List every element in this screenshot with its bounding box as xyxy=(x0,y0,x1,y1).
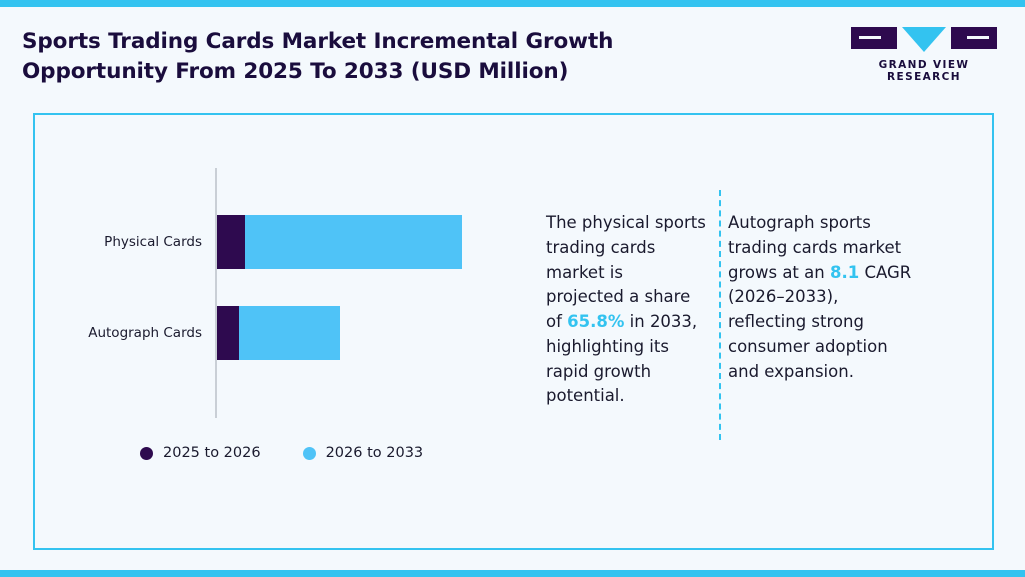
chart-legend: 2025 to 2026 2026 to 2033 xyxy=(140,445,423,461)
legend-label: 2026 to 2033 xyxy=(326,445,424,461)
bar-segment-2025-2026 xyxy=(217,306,239,360)
logo-triangle-icon xyxy=(902,27,946,52)
bar-label-autograph-cards: Autograph Cards xyxy=(88,325,202,341)
bar-chart: Physical Cards Autograph Cards 2025 to 2… xyxy=(35,115,535,552)
top-accent-bar xyxy=(0,0,1025,7)
brand-logo: GRAND VIEW RESEARCH xyxy=(851,27,997,83)
bar-segment-2026-2033 xyxy=(239,306,340,360)
legend-dot-icon xyxy=(140,447,153,460)
bar-segment-2026-2033 xyxy=(245,215,462,269)
bottom-accent-bar xyxy=(0,570,1025,577)
legend-label: 2025 to 2026 xyxy=(163,445,261,461)
chart-axis xyxy=(215,168,217,418)
callout-physical-cards: The physical sports trading cards market… xyxy=(546,211,706,409)
logo-left-block-icon xyxy=(851,27,897,49)
infographic-page: Sports Trading Cards Market Incremental … xyxy=(0,0,1025,577)
legend-item-2025-2026: 2025 to 2026 xyxy=(140,445,261,461)
bar-label-physical-cards: Physical Cards xyxy=(104,234,202,250)
logo-right-block-icon xyxy=(951,27,997,49)
bar-segment-2025-2026 xyxy=(217,215,245,269)
legend-dot-icon xyxy=(303,447,316,460)
legend-item-2026-2033: 2026 to 2033 xyxy=(303,445,424,461)
chart-panel: Physical Cards Autograph Cards 2025 to 2… xyxy=(33,113,994,550)
callout-autograph-cards: Autograph sports trading cards market gr… xyxy=(728,211,918,384)
callout-highlight-share: 65.8% xyxy=(567,312,624,331)
callout-divider xyxy=(719,190,721,440)
logo-text: GRAND VIEW RESEARCH xyxy=(851,59,997,83)
page-title: Sports Trading Cards Market Incremental … xyxy=(22,27,712,86)
callout-highlight-cagr: 8.1 xyxy=(830,263,859,282)
logo-marks xyxy=(851,27,997,53)
